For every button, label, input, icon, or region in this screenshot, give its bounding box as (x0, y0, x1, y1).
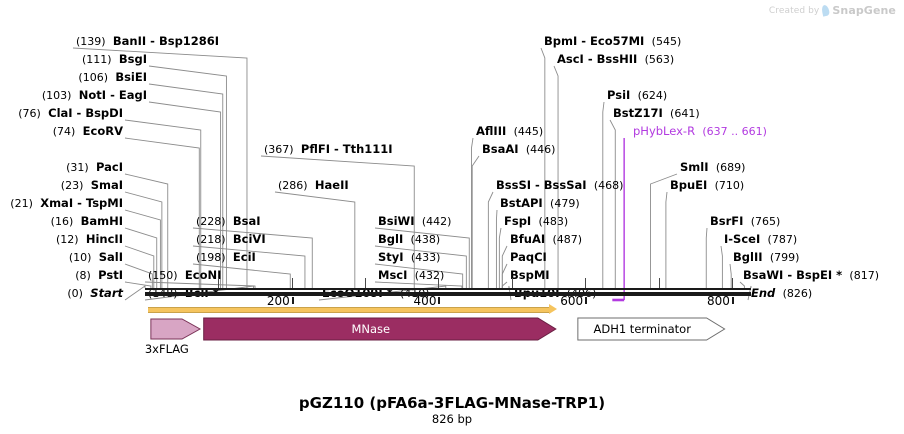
feature-label-mnase: MNase (204, 322, 538, 336)
feature-arrow-3xflag[interactable] (151, 319, 200, 339)
page-title: pGZ110 (pFA6a-3FLAG-MNase-TRP1) (0, 394, 904, 412)
plasmid-length: 826 bp (0, 412, 904, 426)
feature-label-adh1terminator: ADH1 terminator (578, 322, 707, 336)
feature-arrows (0, 0, 904, 434)
feature-label-3xflag: 3xFLAG (145, 342, 189, 356)
plasmid-map-canvas: Created by SnapGene (0) Start(8) PstI(10… (0, 0, 904, 434)
